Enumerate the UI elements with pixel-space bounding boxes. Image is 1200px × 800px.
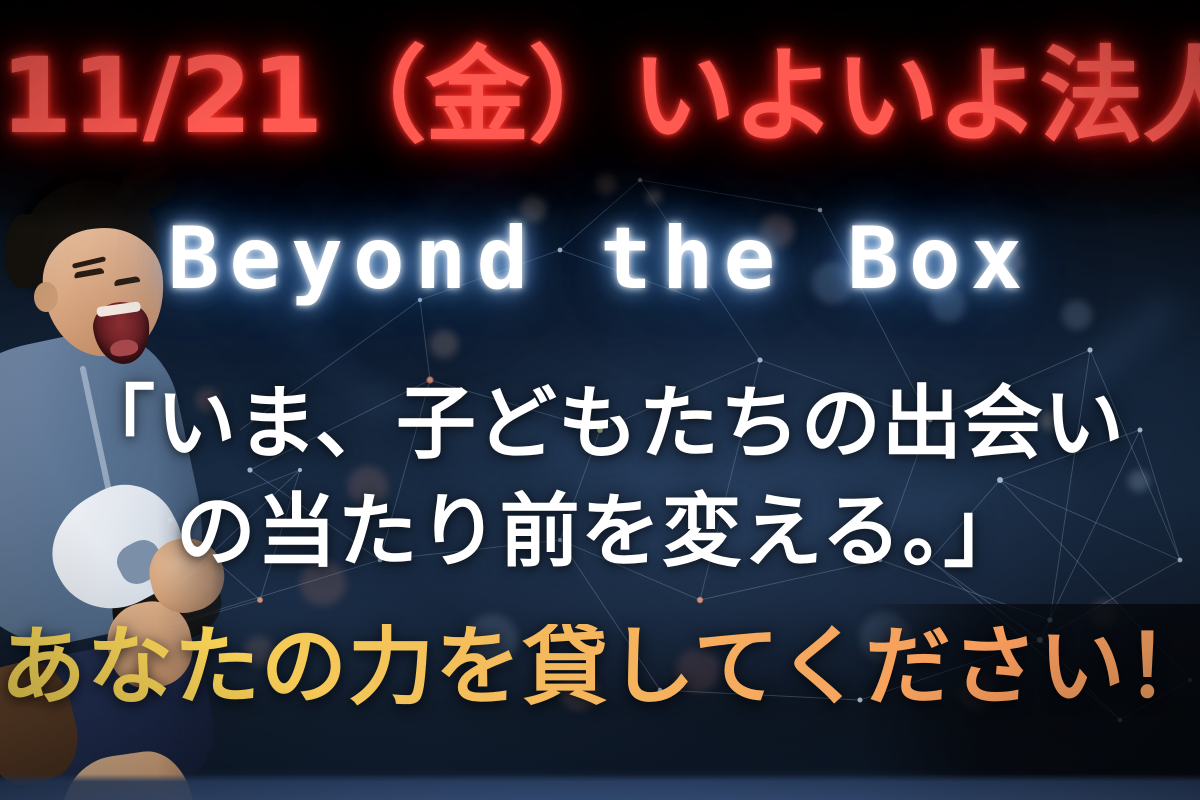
announcement-date-headline: 11/21（金）いよいよ法人化！: [0, 44, 1200, 148]
organization-name: Beyond the Box: [0, 216, 1200, 302]
call-to-action-text: あなたの力を貸してください！: [0, 624, 1200, 710]
campaign-poster: 11/21（金）いよいよ法人化！ Beyond the Box 「いま、子どもた…: [0, 0, 1200, 800]
tagline-line-1: 「いま、子どもたちの出会い: [0, 384, 1200, 464]
tagline-line-2: の当たり前を変える。」: [0, 492, 1200, 572]
bottom-blue-band: [0, 774, 1200, 800]
